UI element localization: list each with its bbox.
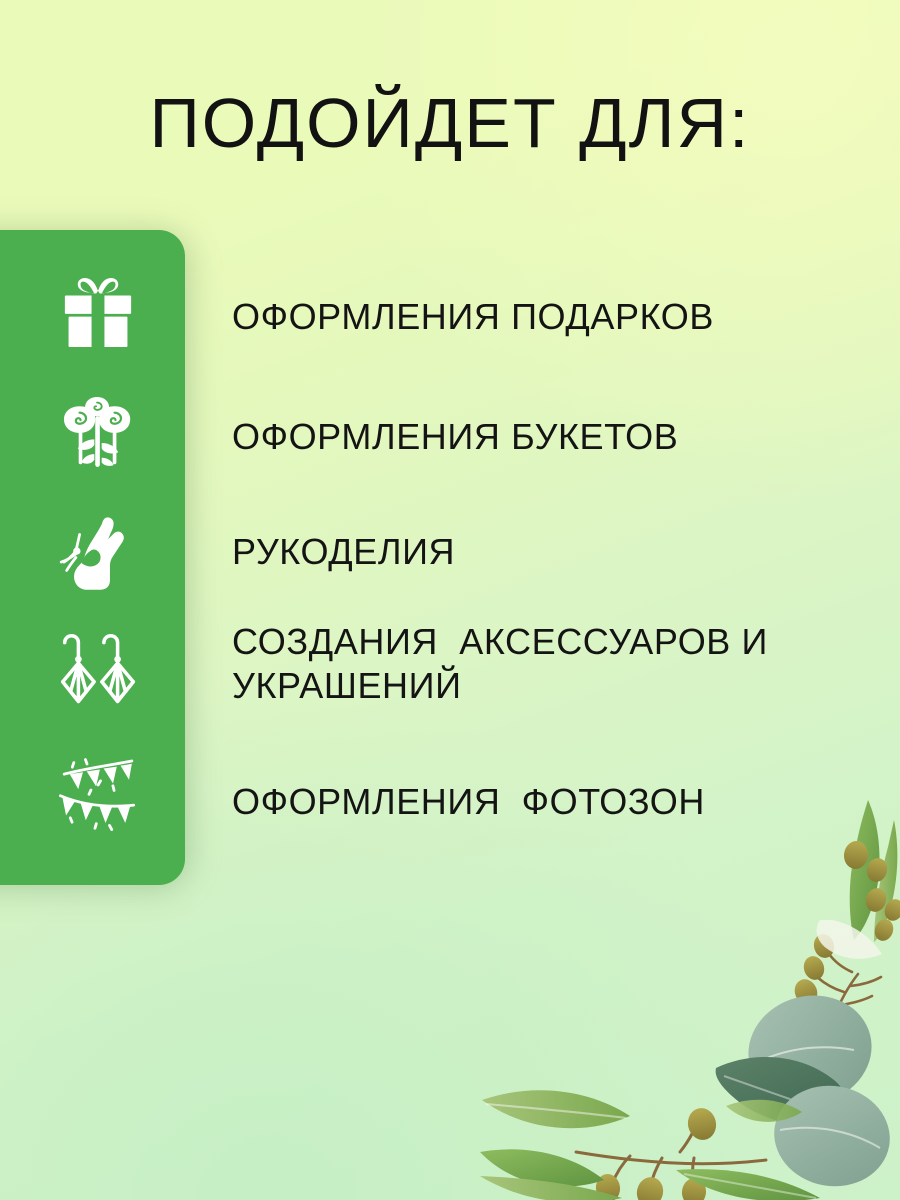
- bunting-icon: [37, 732, 159, 852]
- leaf-accent-small: [726, 1100, 802, 1122]
- roses-icon: [37, 372, 159, 492]
- leaf-broad-dark-vein: [724, 1076, 844, 1118]
- leaf-long-green-2: [676, 1169, 820, 1200]
- leaf-long-olive-1-vein: [486, 1104, 626, 1118]
- seedpods-lower: [594, 1105, 719, 1200]
- benefit-item-accessories-line2: УКРАШЕНИЙ: [232, 664, 462, 708]
- benefit-item-bouquets: ОФОРМЛЕНИЯ БУКЕТОВ: [232, 415, 678, 459]
- leaf-round-sage: [737, 983, 883, 1118]
- seedpods-upper: [791, 839, 900, 1008]
- eucalyptus-decoration: [480, 800, 900, 1200]
- leaf-broad-dark: [716, 1057, 851, 1125]
- leaf-long-green-2-vein: [684, 1174, 816, 1198]
- handcraft-icon: [37, 492, 159, 612]
- earrings-icon: [37, 612, 159, 732]
- leaf-back-tall-2: [874, 820, 897, 942]
- leaf-back-tall: [850, 800, 880, 940]
- benefit-item-accessories: СОЗДАНИЯ АКСЕССУАРОВ И: [232, 620, 768, 664]
- benefit-item-photozone: ОФОРМЛЕНИЯ ФОТОЗОН: [232, 780, 705, 824]
- poster-canvas: ПОДОЙДЕТ ДЛЯ:: [0, 0, 900, 1200]
- leaf-round-sage-2-vein: [780, 1128, 880, 1148]
- leaf-round-sage-2: [766, 1077, 898, 1196]
- benefit-item-gifts: ОФОРМЛЕНИЯ ПОДАРКОВ: [232, 295, 714, 339]
- leaf-round-sage-vein: [758, 1047, 854, 1062]
- leaf-long-olive-1: [482, 1090, 630, 1128]
- benefit-item-handcraft: РУКОДЕЛИЯ: [232, 530, 455, 574]
- seedpod-branch-lower: [576, 1120, 766, 1188]
- icon-panel: [0, 230, 185, 885]
- page-title: ПОДОЙДЕТ ДЛЯ:: [0, 86, 900, 160]
- leaf-long-green-1: [480, 1149, 604, 1186]
- gift-icon: [37, 252, 159, 372]
- seedpod-branch-upper: [811, 954, 881, 1036]
- leaf-long-olive-2: [480, 1176, 622, 1200]
- leaf-pale-highlight: [817, 920, 882, 959]
